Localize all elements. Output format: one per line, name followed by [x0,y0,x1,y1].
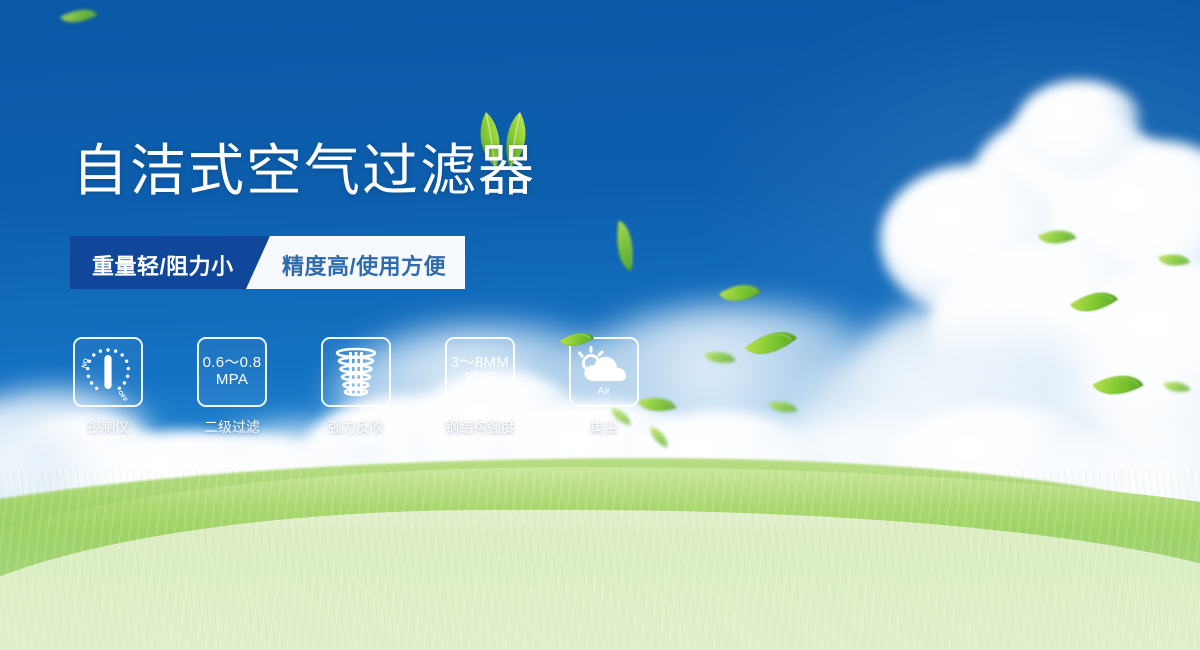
steel-plate-text-icon: 3〜8MM 钢板 [451,355,509,389]
leaf-icon [745,318,797,367]
feature-item-steel-strength[interactable]: 3〜8MM 钢板 钢结构强度 [444,337,516,437]
feature-label: 钢结构强度 [445,417,515,437]
feature-icon-box: 0.6〜0.8 MPA [197,337,267,407]
feature-icon-box: NO OFF [73,337,143,407]
leaf-icon [705,347,736,369]
leaf-icon [719,274,761,312]
leaf-icon [638,390,676,419]
hill-foreground [0,510,1200,650]
feature-label: 集尘 [590,417,618,437]
feature-item-backblow[interactable]: 强力反吹 [320,337,392,437]
pressure-line-2: MPA [203,372,262,389]
ribbon-left-label: 重量轻/阻力小 [92,249,234,281]
feature-item-dust-collection[interactable]: Air 集尘 [568,337,640,437]
subtitle-ribbon: 重量轻/阻力小 精度高/使用方便 [70,236,465,289]
ribbon-right-label: 精度高/使用方便 [282,249,446,281]
gauge-max-label: OFF [116,390,128,401]
feature-icon-box: 3〜8MM 钢板 [445,337,515,407]
hero-banner: 自洁式空气过滤器 重量轻/阻力小 精度高/使用方便 [0,0,1200,650]
leaf-icon [1038,222,1076,252]
leaf-icon [1092,363,1143,408]
feature-list: NO OFF 控制仪 0.6〜0.8 MPA 二级过滤 [72,337,640,437]
grass-field [0,420,1200,650]
feature-item-controller[interactable]: NO OFF 控制仪 [72,337,144,437]
feature-icon-box [321,337,391,407]
leaf-icon [1158,248,1190,273]
leaf-icon [1164,377,1191,397]
leaf-icon [646,426,672,447]
leaf-icon [769,397,797,416]
feature-item-two-stage-filter[interactable]: 0.6〜0.8 MPA 二级过滤 [196,337,268,437]
page-title: 自洁式空气过滤器 [72,143,536,199]
cloud-cluster-right [820,110,1200,540]
cloud-air-icon: Air [575,343,633,401]
steel-line-2: 钢板 [451,372,509,389]
gauge-dial-icon: NO OFF [79,343,137,401]
hill-background [0,458,1200,578]
feature-label: 强力反吹 [328,417,384,437]
pressure-text-icon: 0.6〜0.8 MPA [203,355,262,389]
hill-midground [0,467,1200,602]
grass-texture [0,470,1200,650]
filter-cartridge-icon [329,345,383,399]
grass-highlight [0,530,1200,650]
feature-icon-box: Air [569,337,639,407]
cloud-caption: Air [598,385,611,397]
leaf-icon [60,1,98,31]
pressure-line-1: 0.6〜0.8 [203,355,262,372]
leaf-icon [612,221,638,271]
feature-label: 控制仪 [87,417,129,437]
steel-line-1: 3〜8MM [451,355,509,372]
gauge-min-label: NO [81,358,91,369]
feature-label: 二级过滤 [204,417,260,437]
leaf-icon [1070,280,1118,324]
